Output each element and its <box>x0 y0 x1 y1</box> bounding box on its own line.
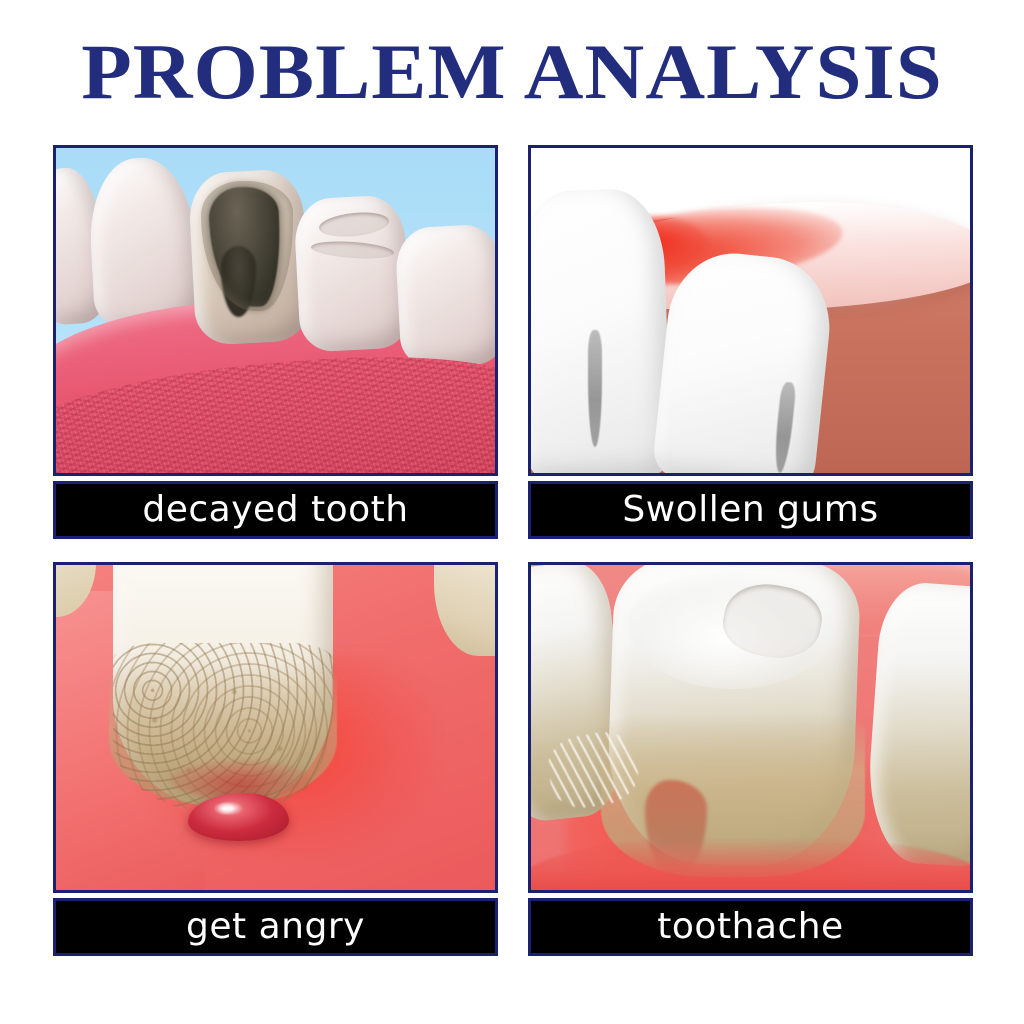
caption-label: get angry <box>186 907 365 947</box>
tooth-left <box>528 188 672 476</box>
illustration-decayed-tooth <box>56 148 495 473</box>
problem-analysis-poster: PROBLEM ANALYSIS <box>0 0 1024 1024</box>
panel-swollen-gums[interactable]: Swollen gums <box>528 145 973 539</box>
illustration-get-angry <box>56 565 495 890</box>
caption-label: Swollen gums <box>622 490 878 530</box>
caption-bar-decayed-tooth: decayed tooth <box>53 481 498 539</box>
figure-swollen-gums <box>528 145 973 476</box>
panel-toothache[interactable]: toothache <box>528 562 973 956</box>
gum-lower-inflamed <box>528 838 973 893</box>
caption-bar-get-angry: get angry <box>53 898 498 956</box>
panel-decayed-tooth[interactable]: decayed tooth <box>53 145 498 539</box>
panel-get-angry[interactable]: get angry <box>53 562 498 956</box>
figure-decayed-tooth <box>53 145 498 476</box>
figure-toothache <box>528 562 973 893</box>
figure-get-angry <box>53 562 498 893</box>
illustration-swollen-gums <box>531 148 970 473</box>
caption-bar-swollen-gums: Swollen gums <box>528 481 973 539</box>
tooth-molar-2 <box>395 223 498 368</box>
illustration-toothache <box>531 565 970 890</box>
caption-label: decayed tooth <box>142 490 408 530</box>
caption-bar-toothache: toothache <box>528 898 973 956</box>
caption-label: toothache <box>657 907 843 947</box>
panel-grid: decayed tooth Swolle <box>53 145 973 962</box>
page-title: PROBLEM ANALYSIS <box>0 32 1024 112</box>
